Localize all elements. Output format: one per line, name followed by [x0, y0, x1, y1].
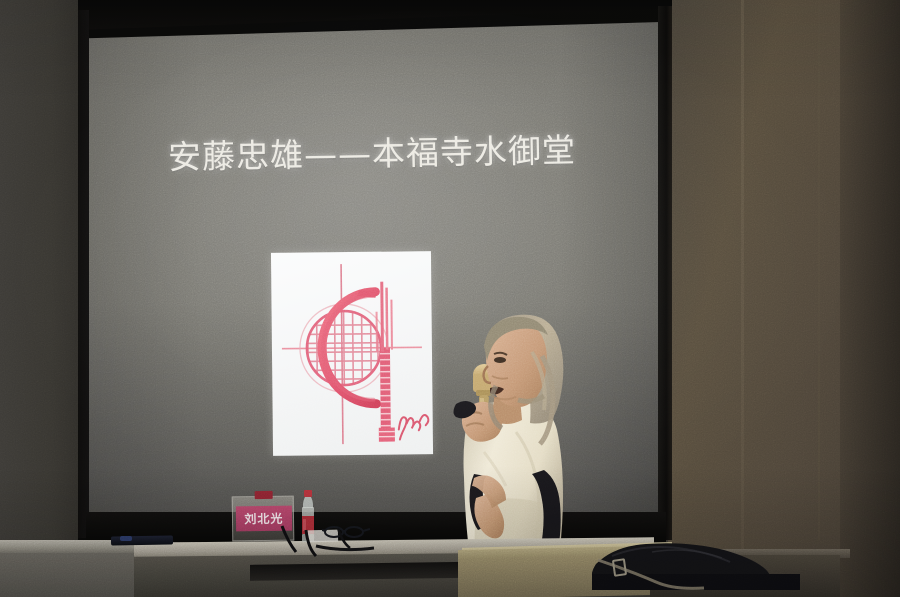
speaker-svg [432, 312, 610, 572]
slide-sketch-image [271, 251, 433, 456]
left-wall [0, 0, 86, 597]
lecture-photograph: 安藤忠雄——本福寺水御堂 [0, 0, 900, 597]
cables [276, 524, 396, 558]
name-plate-clip [255, 491, 273, 499]
far-right-wall-shadow [840, 0, 900, 597]
wall-seam [741, 0, 744, 560]
speaker-figure [432, 312, 610, 572]
wall-seam-secondary [818, 0, 820, 540]
screen-edge-right [658, 6, 672, 540]
bag-buckle [612, 558, 627, 577]
slide-title: 安藤忠雄——本福寺水御堂 [168, 132, 599, 176]
sketch-signature [399, 415, 429, 440]
left-ledge-face [0, 553, 148, 597]
screen-edge-left [78, 10, 89, 538]
whiteboard-eraser-tip [120, 536, 132, 541]
sketch-svg [271, 251, 433, 456]
